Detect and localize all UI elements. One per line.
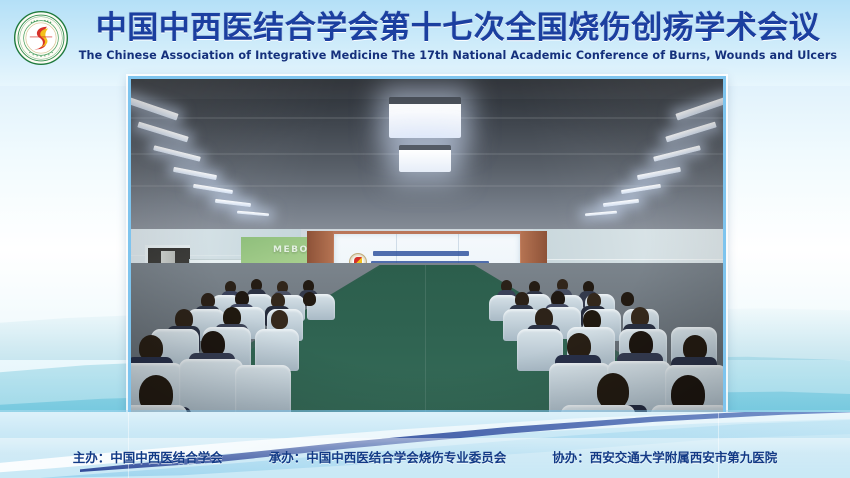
association-emblem-icon xyxy=(13,10,69,66)
conference-photo-frame: MEBO xyxy=(128,76,726,418)
page-subtitle: The Chinese Association of Integrative M… xyxy=(79,50,837,61)
band-wave-blue-light xyxy=(40,412,850,478)
broadcast-frame: 中国中西医结合学会第十七次全国烧伤创疡学术会议 The Chinese Asso… xyxy=(0,0,850,478)
ceiling-panel-light xyxy=(399,145,451,172)
sponsor-host: 承办：中国中西医结合学会烧伤专业委员会 xyxy=(269,447,507,466)
mebo-sign-label: MEBO xyxy=(273,245,309,255)
sponsor-list: 主办：中国中西医结合学会 承办：中国中西医结合学会烧伤专业委员会 协办：西安交通… xyxy=(0,447,850,466)
conference-hall-photo: MEBO xyxy=(131,79,723,415)
title-block: 中国中西医结合学会第十七次全国烧伤创疡学术会议 The Chinese Asso… xyxy=(79,13,837,61)
page-title: 中国中西医结合学会第十七次全国烧伤创疡学术会议 xyxy=(96,13,821,44)
ceiling-panel-light xyxy=(389,97,461,138)
sponsor-band: 主办：中国中西医结合学会 承办：中国中西医结合学会烧伤专业委员会 协办：西安交通… xyxy=(0,412,850,478)
sponsor-organizer: 主办：中国中西医结合学会 xyxy=(73,447,223,466)
carpet-seam xyxy=(425,265,427,415)
sponsor-cohost: 协办：西安交通大学附属西安市第九医院 xyxy=(552,447,777,466)
screen-title-line-1 xyxy=(373,251,469,256)
header: 中国中西医结合学会第十七次全国烧伤创疡学术会议 The Chinese Asso… xyxy=(0,0,850,74)
